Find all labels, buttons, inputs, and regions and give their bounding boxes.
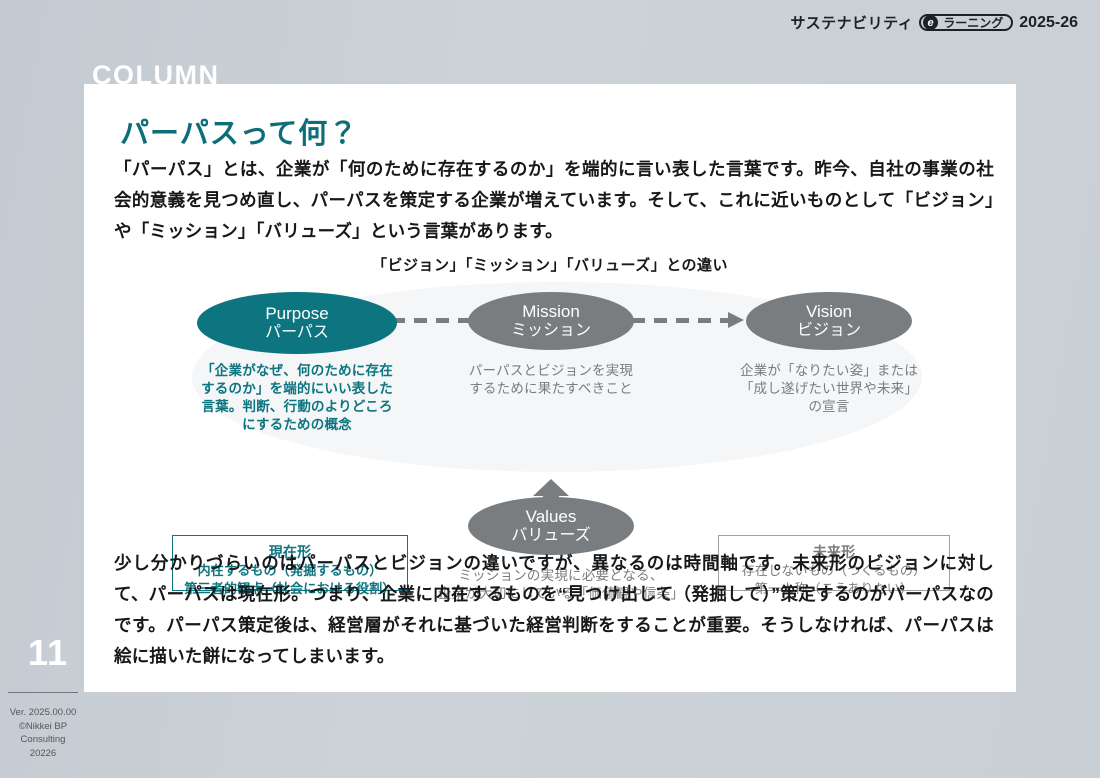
page-number: 11 xyxy=(28,632,68,674)
intro-paragraph: 「パーパス」とは、企業が「何のために存在するのか」を端的に言い表した言葉です。昨… xyxy=(114,154,994,247)
footer-code: 20226 xyxy=(0,747,86,761)
purpose-diagram: 「ビジョン」「ミッション」「バリューズ」との違い Purpose パーパス Mi… xyxy=(84,254,1016,534)
node-purpose[interactable]: Purpose パーパス xyxy=(197,292,397,354)
node-values-en: Values xyxy=(526,507,577,527)
connector-mission-to-vision xyxy=(632,318,728,323)
e-logo-icon: e xyxy=(923,15,938,30)
closing-paragraph: 少し分かりづらいのはパーパスとビジョンの違いですが、異なるのは時間軸です。未来形… xyxy=(114,548,994,672)
node-purpose-en: Purpose xyxy=(265,304,328,324)
node-mission-description-line-2: するために果たすべきこと xyxy=(456,380,646,398)
node-mission-description: パーパスとビジョンを実現 するために果たすべきこと xyxy=(456,362,646,398)
node-purpose-description-line-1: 「企業がなぜ、何のために存在 xyxy=(177,362,417,380)
slide-header: サステナビリティ e ラーニング 2025-26 xyxy=(790,12,1078,33)
node-mission-en: Mission xyxy=(522,302,580,322)
node-vision-jp: ビジョン xyxy=(797,322,861,341)
node-vision-description: 企業が「なりたい姿」または 「成し遂げたい世界や未来」 の宣言 xyxy=(729,362,929,416)
node-mission-description-line-1: パーパスとビジョンを実現 xyxy=(456,362,646,380)
elearning-badge: e ラーニング xyxy=(919,14,1013,31)
node-vision[interactable]: Vision ビジョン xyxy=(746,292,912,350)
node-purpose-description-line-3: 言葉。判断、行動のよりどころ xyxy=(177,398,417,416)
node-mission-jp: ミッション xyxy=(511,322,591,341)
footer-metadata: Ver. 2025.00.00 ©Nikkei BP Consulting 20… xyxy=(0,706,86,760)
footer-version: Ver. 2025.00.00 xyxy=(0,706,86,720)
node-values-jp: バリューズ xyxy=(511,527,590,546)
elearning-badge-label: ラーニング xyxy=(943,14,1003,31)
footer-company: Consulting xyxy=(0,733,86,747)
node-purpose-description: 「企業がなぜ、何のために存在 するのか」を端的にいい表した 言葉。判断、行動のよ… xyxy=(177,362,417,434)
arrow-right-icon xyxy=(728,312,744,328)
page-title: パーパスって何？ xyxy=(120,110,358,152)
header-year: 2025-26 xyxy=(1019,14,1078,32)
diagram-caption: 「ビジョン」「ミッション」「バリューズ」との違い xyxy=(84,254,1016,275)
node-vision-description-line-1: 企業が「なりたい姿」または xyxy=(729,362,929,380)
node-vision-description-line-3: の宣言 xyxy=(729,398,929,416)
node-vision-description-line-2: 「成し遂げたい世界や未来」 xyxy=(729,380,929,398)
node-mission[interactable]: Mission ミッション xyxy=(468,292,634,350)
header-brand-text: サステナビリティ xyxy=(790,12,913,33)
node-purpose-description-line-2: するのか」を端的にいい表した xyxy=(177,380,417,398)
connector-purpose-to-mission xyxy=(392,318,472,323)
node-purpose-jp: パーパス xyxy=(265,324,329,343)
node-values[interactable]: Values バリューズ xyxy=(468,497,634,555)
footer-copyright: ©Nikkei BP xyxy=(0,720,86,734)
node-vision-en: Vision xyxy=(806,302,852,322)
node-purpose-description-line-4: にするための概念 xyxy=(177,416,417,434)
footer-divider xyxy=(8,692,78,693)
content-card: パーパスって何？ 「パーパス」とは、企業が「何のために存在するのか」を端的に言い… xyxy=(84,84,1016,692)
